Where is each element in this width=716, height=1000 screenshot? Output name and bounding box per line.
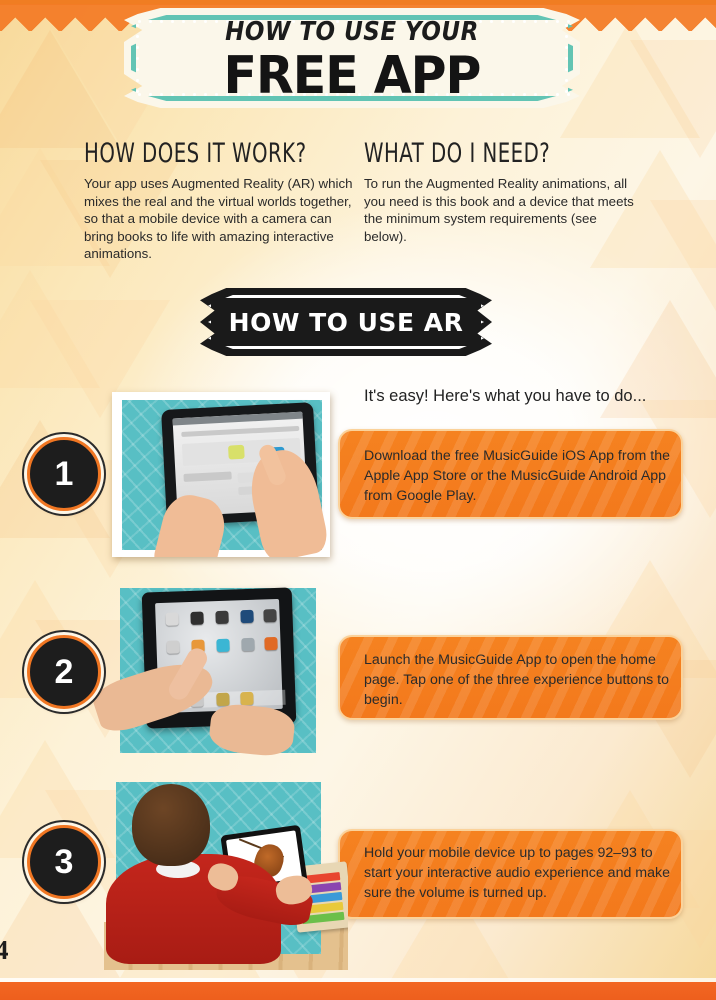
step-3-photo (104, 772, 348, 970)
step-1-photo (112, 392, 330, 557)
header-title-small: HOW TO USE YOUR (225, 19, 479, 45)
bottom-orange-bar (0, 982, 716, 1000)
step-3-number-badge: 3 (27, 825, 101, 899)
info-column-how-does-it-work: HOW DOES IT WORK? Your app uses Augmente… (84, 138, 359, 263)
photo-3-boy-head (132, 784, 210, 866)
header-title-large: FREE APP (224, 49, 481, 100)
ar-banner-title: HOW TO USE AR (200, 288, 492, 356)
step-2-number-badge: 2 (27, 635, 101, 709)
body-what-do-i-need: To run the Augmented Reality animations,… (364, 175, 639, 245)
photo-1-app-store-navbar (173, 412, 303, 426)
step-3-text: Hold your mobile device up to pages 92–9… (364, 843, 674, 903)
page-root: HOW TO USE YOUR FREE APP HOW DOES IT WOR… (0, 0, 716, 1000)
page-number: 4 (0, 935, 9, 966)
body-how-does-it-work: Your app uses Augmented Reality (AR) whi… (84, 175, 359, 263)
header-banner: HOW TO USE YOUR FREE APP (124, 14, 580, 106)
info-column-what-do-i-need: WHAT DO I NEED? To run the Augmented Rea… (364, 138, 639, 245)
heading-how-does-it-work: HOW DOES IT WORK? (84, 138, 343, 168)
lead-in-text: It's easy! Here's what you have to do... (364, 387, 646, 406)
step-2-text: Launch the MusicGuide App to open the ho… (364, 650, 674, 710)
step-2-photo (82, 578, 334, 758)
step-1-text: Download the free MusicGuide iOS App fro… (364, 446, 674, 506)
step-1-number-badge: 1 (27, 437, 101, 511)
heading-what-do-i-need: WHAT DO I NEED? (364, 138, 623, 168)
